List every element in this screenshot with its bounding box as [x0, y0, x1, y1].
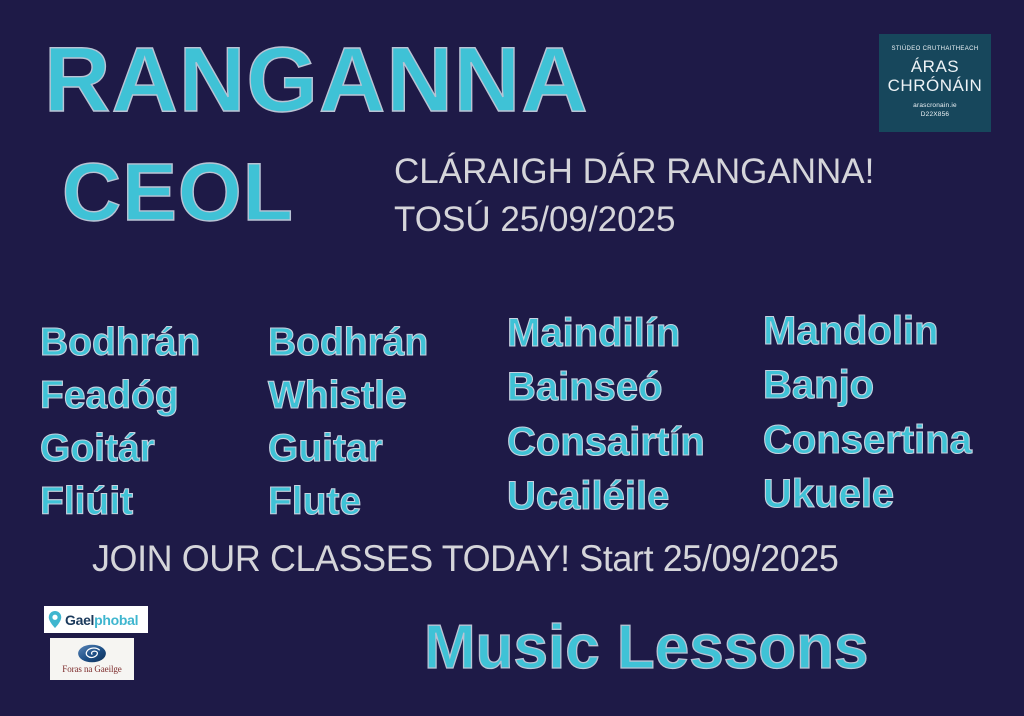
page-title-ranganna: RANGANNA: [44, 34, 589, 126]
gaelphobal-word-dark: Gael: [65, 612, 94, 628]
instrument-item: Flute: [268, 475, 428, 528]
aras-logo-name-line2: CHRÓNÁIN: [888, 77, 983, 95]
instrument-item: Ucailéile: [507, 469, 705, 523]
page-title-ceol: CEOL: [62, 152, 294, 234]
instrument-item: Mandolin: [763, 304, 972, 358]
instrument-item: Consairtín: [507, 415, 705, 469]
instrument-item: Bodhrán: [40, 316, 200, 369]
gaelphobal-logo: Gaelphobal: [44, 606, 148, 633]
instrument-item: Guitar: [268, 422, 428, 475]
instrument-item: Bodhrán: [268, 316, 428, 369]
instrument-column-irish-2: Maindilín Bainseó Consairtín Ucailéile: [507, 306, 705, 524]
instrument-column-english-1: Bodhrán Whistle Guitar Flute: [268, 316, 428, 528]
instrument-item: Feadóg: [40, 369, 200, 422]
join-classes-banner: JOIN OUR CLASSES TODAY! Start 25/09/2025: [92, 538, 838, 580]
subtitle-line-1: CLÁRAIGH DÁR RANGANNA!: [394, 148, 874, 196]
instrument-item: Goitár: [40, 422, 200, 475]
foras-na-gaeilge-wordmark: Foras na Gaeilge: [62, 664, 121, 674]
aras-chronain-logo: STIÚDEO CRUTHAITHEACH ÁRAS CHRÓNÁIN aras…: [879, 34, 991, 132]
music-lessons-headline: Music Lessons: [424, 617, 868, 679]
subtitle-block: CLÁRAIGH DÁR RANGANNA! TOSÚ 25/09/2025: [394, 148, 874, 245]
gaelphobal-word-teal: phobal: [94, 612, 138, 628]
foras-na-gaeilge-logo: Foras na Gaeilge: [50, 638, 134, 680]
instrument-columns: Bodhrán Feadóg Goitár Fliúit Bodhrán Whi…: [0, 296, 1024, 516]
instrument-item: Ukuele: [763, 467, 972, 521]
instrument-item: Banjo: [763, 358, 972, 412]
subtitle-line-2: TOSÚ 25/09/2025: [394, 196, 874, 244]
instrument-item: Fliúit: [40, 475, 200, 528]
swirl-icon: [77, 644, 107, 663]
location-pin-icon: [48, 611, 62, 628]
aras-studio-tagline: STIÚDEO CRUTHAITHEACH: [891, 46, 978, 52]
instrument-item: Maindilín: [507, 306, 705, 360]
aras-logo-url: arascronain.ie: [913, 102, 957, 111]
instrument-item: Consertina: [763, 413, 972, 467]
poster-canvas: RANGANNA CEOL CLÁRAIGH DÁR RANGANNA! TOS…: [0, 0, 1024, 716]
instrument-column-irish-1: Bodhrán Feadóg Goitár Fliúit: [40, 316, 200, 528]
aras-logo-name-line1: ÁRAS: [911, 58, 959, 76]
instrument-item: Bainseó: [507, 360, 705, 414]
aras-logo-eircode: D22X856: [921, 111, 950, 120]
instrument-column-english-2: Mandolin Banjo Consertina Ukuele: [763, 304, 972, 522]
instrument-item: Whistle: [268, 369, 428, 422]
gaelphobal-wordmark: Gaelphobal: [65, 613, 138, 627]
